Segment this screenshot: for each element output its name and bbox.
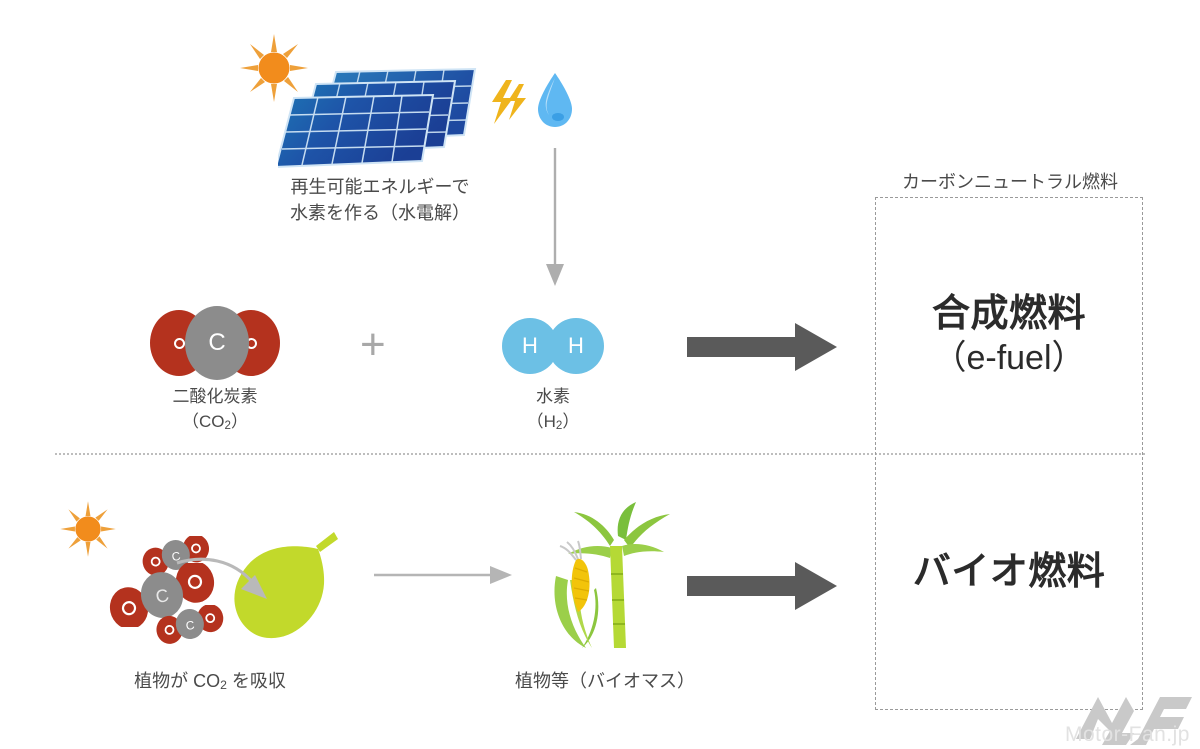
hydrogen-label-formula: （H2）: [473, 410, 633, 435]
renewable-caption-line2: 水素を作る（水電解）: [250, 200, 510, 226]
plus-operator: +: [360, 320, 386, 370]
biofuel-process-arrow: [687, 562, 837, 610]
sun-icon: [57, 498, 119, 560]
co2-absorption-arrow: [175, 545, 290, 615]
water-to-hydrogen-arrow: [543, 148, 567, 288]
absorb-caption-sub: 2: [220, 678, 227, 692]
biomass-caption: 植物等（バイオマス）: [455, 668, 755, 694]
co2-label-line1: 二酸化炭素: [135, 385, 295, 410]
renewable-energy-caption: 再生可能エネルギーで 水素を作る（水電解）: [250, 174, 510, 226]
lightning-bolt-icon: [486, 80, 526, 130]
efuel-label-line1: 合成燃料: [875, 292, 1143, 338]
absorb-caption-pre: 植物が CO: [134, 671, 220, 691]
biomass-flow-arrow: [374, 562, 514, 588]
watermark-text: Motor-Fan.jp: [1065, 723, 1190, 747]
renewable-caption-line1: 再生可能エネルギーで: [250, 174, 510, 200]
efuel-label: 合成燃料 （e-fuel）: [875, 292, 1143, 378]
efuel-process-arrow: [687, 323, 837, 371]
water-drop-icon: [535, 72, 575, 128]
biomass-plants-icon: [540, 502, 675, 650]
h2-formula-pre: （H: [527, 412, 556, 431]
hydrogen-label-line1: 水素: [473, 385, 633, 410]
h2-molecule: H H: [502, 318, 604, 374]
carbon-atom: C: [185, 306, 249, 380]
absorb-caption-post: を吸収: [227, 671, 286, 691]
co2-label-formula: （CO2）: [135, 410, 295, 435]
co2-molecule: C: [150, 306, 280, 380]
carbon-neutral-fuel-title: カーボンニュートラル燃料: [860, 168, 1160, 194]
co2-label: 二酸化炭素 （CO2）: [135, 385, 295, 434]
hydrogen-atom: H: [548, 318, 604, 374]
diagram-canvas: 再生可能エネルギーで 水素を作る（水電解） C + H H 二酸化炭素 （CO2…: [0, 0, 1200, 749]
h2-formula-post: ）: [562, 412, 579, 431]
carbon-neutral-fuel-box: [875, 197, 1143, 710]
efuel-label-line2: （e-fuel）: [875, 338, 1143, 379]
biofuel-label: バイオ燃料: [875, 550, 1143, 596]
hydrogen-label: 水素 （H2）: [473, 385, 633, 434]
co2-formula-post: ）: [231, 412, 248, 431]
co2-formula-pre: （CO: [182, 412, 225, 431]
co2-absorption-caption: 植物が CO2 を吸収: [60, 668, 360, 695]
solar-panels-icon: [278, 58, 513, 170]
